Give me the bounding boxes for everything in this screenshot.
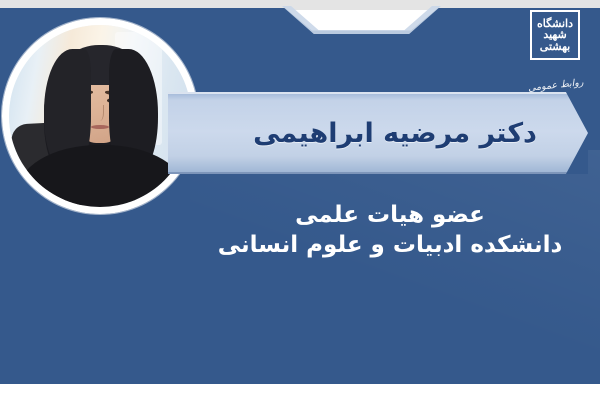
name-ribbon: دکتر مرضیه ابراهیمی — [168, 92, 588, 174]
nose-icon — [95, 105, 103, 121]
logo-line-beheshti: بهشتی — [540, 41, 570, 52]
bottom-white-band — [0, 384, 600, 400]
subtitle-faculty: دانشکده ادبیات و علوم انسانی — [200, 230, 580, 260]
university-logo: دانشگاه شهید بهشتی روابط عمومی — [482, 6, 586, 90]
avatar-photo — [9, 25, 191, 207]
logo-box-icon: دانشگاه شهید بهشتی — [530, 10, 580, 60]
subtitle-block: عضو هیات علمی دانشکده ادبیات و علوم انسا… — [200, 200, 580, 261]
faculty-member-name: دکتر مرضیه ابراهیمی — [168, 92, 588, 174]
subtitle-role: عضو هیات علمی — [200, 200, 580, 230]
logo-line-shahid: شهید — [543, 29, 566, 40]
faculty-member-card: دکتر مرضیه ابراهیمی عضو هیات علمی دانشکد… — [0, 0, 600, 400]
